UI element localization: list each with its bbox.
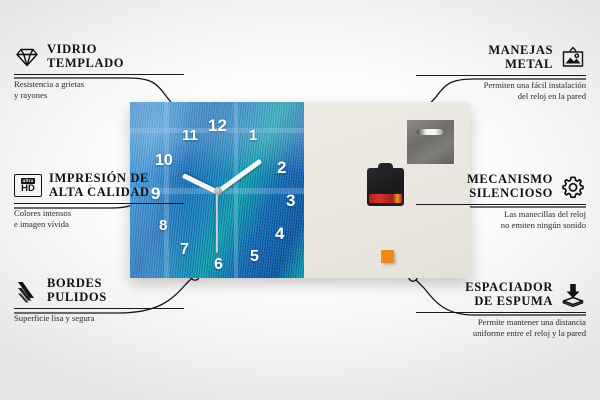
feature-subtitle-line1: Superficie lisa y segura: [14, 313, 184, 324]
clock-numeral-4: 4: [275, 225, 284, 242]
feature-subtitle-line1: Colores intensos: [14, 208, 184, 219]
feature-heading: BORDES PULIDOS: [14, 277, 184, 304]
feature-subtitle-line2: del reloj en la pared: [416, 91, 586, 102]
feature-heading: MANEJAS METAL: [416, 44, 586, 71]
feature-subtitle-line2: e imagen vívida: [14, 219, 184, 230]
feature-heading: ultra HD IMPRESIÓN DE ALTA CALIDAD: [14, 172, 184, 199]
feature-divider: [416, 75, 586, 76]
feature-title: MECANISMO SILENCIOSO: [467, 173, 553, 200]
feature-divider: [14, 203, 184, 204]
hanger-slot: [417, 129, 443, 135]
feature-manejas-metal: MANEJAS METAL Permiten una fácil instala…: [416, 44, 586, 102]
feature-heading: VIDRIO TEMPLADO: [14, 43, 184, 70]
clock-numeral-6: 6: [214, 257, 223, 273]
clock-numeral-10: 10: [155, 153, 173, 169]
clock-numeral-11: 11: [182, 128, 198, 143]
feature-subtitle-line2: uniforme entre el reloj y la pared: [416, 328, 586, 339]
clock-numeral-3: 3: [286, 192, 295, 209]
ultra-hd-large-label: HD: [21, 184, 35, 194]
clock-numeral-7: 7: [180, 242, 189, 258]
feature-title: IMPRESIÓN DE ALTA CALIDAD: [49, 172, 150, 199]
feature-espaciador-espuma: ESPACIADOR DE ESPUMA Permite mantener un…: [416, 281, 586, 339]
feature-divider: [14, 308, 184, 309]
feature-divider: [416, 312, 586, 313]
ultra-hd-icon: ultra HD: [14, 174, 42, 197]
clock-numeral-1: 1: [249, 128, 257, 143]
feature-title: ESPACIADOR DE ESPUMA: [465, 281, 553, 308]
feature-subtitle-line1: Las manecillas del reloj: [416, 209, 586, 220]
feature-subtitle-line1: Permite mantener una distancia: [416, 317, 586, 328]
feature-title: VIDRIO TEMPLADO: [47, 43, 124, 70]
feature-subtitle-line1: Resistencia a grietas: [14, 79, 184, 90]
feature-divider: [14, 74, 184, 75]
clock-center-cap: [214, 187, 222, 195]
metal-hanger-plate: [407, 120, 454, 164]
feature-mecanismo-silencioso: MECANISMO SILENCIOSO Las manecillas del …: [416, 173, 586, 231]
clock-numeral-5: 5: [250, 249, 259, 265]
feature-impresion-alta-calidad: ultra HD IMPRESIÓN DE ALTA CALIDAD Color…: [14, 172, 184, 230]
diagonal-stripes-icon: [14, 278, 40, 304]
glass-reflection: [234, 102, 238, 278]
feature-title: BORDES PULIDOS: [47, 277, 107, 304]
feature-heading: MECANISMO SILENCIOSO: [416, 173, 586, 200]
infographic-canvas: 12 1 2 3 4 5 6 7 8 9 10 11: [0, 0, 600, 400]
feature-title: MANEJAS METAL: [488, 44, 553, 71]
arrow-down-pad-icon: [560, 282, 586, 308]
feature-subtitle-line2: no emiten ningún sonido: [416, 220, 586, 231]
clock-mechanism-box: [367, 168, 404, 206]
picture-frame-hanger-icon: [560, 45, 586, 71]
battery: [369, 194, 402, 203]
diamond-icon: [14, 44, 40, 70]
feature-divider: [416, 204, 586, 205]
clock-second-hand: [216, 191, 218, 253]
mechanism-hook: [378, 163, 393, 170]
feature-heading: ESPACIADOR DE ESPUMA: [416, 281, 586, 308]
feature-bordes-pulidos: BORDES PULIDOS Superficie lisa y segura: [14, 277, 184, 324]
feature-vidrio-templado: VIDRIO TEMPLADO Resistencia a grietas y …: [14, 43, 184, 101]
feature-subtitle-line2: y rayones: [14, 90, 184, 101]
gear-icon: [560, 174, 586, 200]
foam-spacer-pad: [381, 250, 394, 263]
clock-numeral-2: 2: [277, 159, 286, 176]
clock-numeral-12: 12: [208, 117, 227, 134]
feature-subtitle-line1: Permiten una fácil instalación: [416, 80, 586, 91]
